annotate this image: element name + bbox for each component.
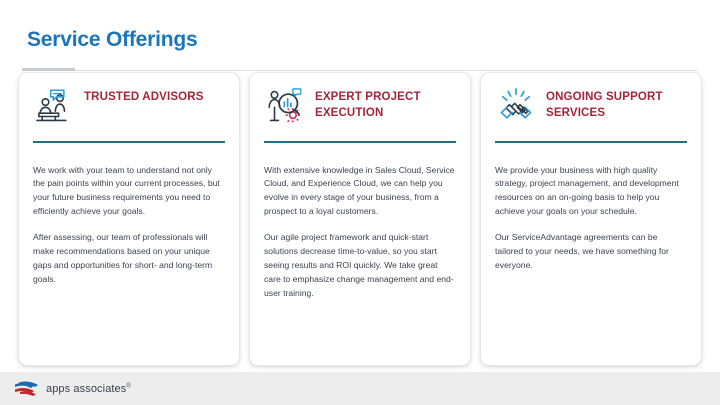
registered-trademark-symbol: ® <box>126 383 131 389</box>
card-paragraph: Our agile project framework and quick-st… <box>264 231 456 301</box>
service-card-expert-project-execution[interactable]: EXPERT PROJECT EXECUTION With extensive … <box>249 72 471 366</box>
card-title-divider <box>33 141 225 143</box>
card-title: TRUSTED ADVISORS <box>84 85 204 105</box>
handshake-icon <box>495 85 537 127</box>
card-header: TRUSTED ADVISORS <box>33 85 225 131</box>
brand-logo: apps associates® <box>14 380 131 397</box>
card-body: We provide your business with high quali… <box>495 164 687 273</box>
card-title-divider <box>495 141 687 143</box>
card-header: EXPERT PROJECT EXECUTION <box>264 85 456 131</box>
card-title-divider <box>264 141 456 143</box>
advisors-desk-speech-bubble-icon <box>33 85 75 127</box>
slide-footer: apps associates® <box>0 372 720 405</box>
brand-logo-text: apps associates® <box>46 383 131 395</box>
card-title: EXPERT PROJECT EXECUTION <box>315 85 456 122</box>
card-header: ONGOING SUPPORT SERVICES <box>495 85 687 131</box>
card-paragraph: We provide your business with high quali… <box>495 164 687 220</box>
card-paragraph: With extensive knowledge in Sales Cloud,… <box>264 164 456 220</box>
double-chevron-swoosh-logo <box>14 380 40 397</box>
card-body: We work with your team to understand not… <box>33 164 225 287</box>
card-body: With extensive knowledge in Sales Cloud,… <box>264 164 456 301</box>
page-title: Service Offerings <box>27 28 198 51</box>
slide-canvas: Service Offerings <box>0 0 720 405</box>
card-paragraph: Our ServiceAdvantage agreements can be t… <box>495 231 687 273</box>
service-card-trusted-advisors[interactable]: TRUSTED ADVISORS We work with your team … <box>18 72 240 366</box>
card-title: ONGOING SUPPORT SERVICES <box>546 85 687 122</box>
analyst-magnifier-chart-gear-icon <box>264 85 306 127</box>
header-divider <box>22 70 698 71</box>
brand-logo-name: apps associates <box>46 383 126 395</box>
card-paragraph: We work with your team to understand not… <box>33 164 225 220</box>
service-card-ongoing-support-services[interactable]: ONGOING SUPPORT SERVICES We provide your… <box>480 72 702 366</box>
card-paragraph: After assessing, our team of professiona… <box>33 231 225 287</box>
header-divider-accent <box>22 68 75 71</box>
service-cards-row: TRUSTED ADVISORS We work with your team … <box>18 72 702 366</box>
